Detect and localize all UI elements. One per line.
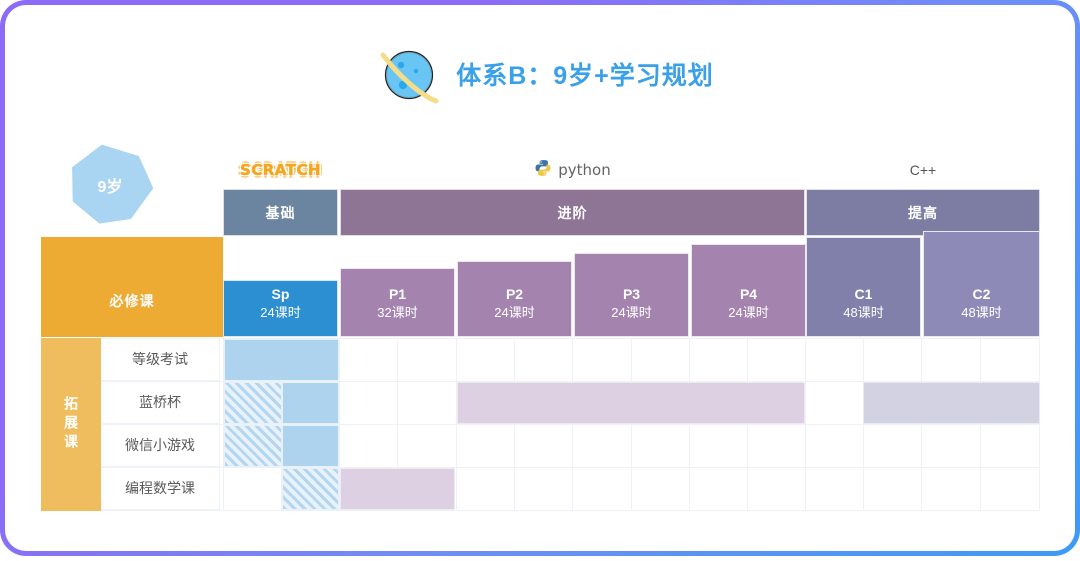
stage-label-basic: 基础 — [266, 203, 296, 223]
cpp-logo-wrap: C++ — [806, 157, 1040, 183]
slide-header: 体系B：9岁+学习规划 — [5, 41, 1080, 107]
grid-row-label-programming-math: 编程数学课 — [101, 467, 220, 510]
python-icon — [534, 159, 552, 182]
extension-course-label: 拓展课 — [41, 338, 101, 511]
gridline — [101, 510, 1040, 511]
stage-label-intermediate: 进阶 — [558, 203, 588, 223]
scratch-logo: SCRATCH — [240, 161, 321, 179]
page-title: 体系B：9岁+学习规划 — [456, 56, 714, 92]
bar-wechat-game-basic[interactable] — [224, 425, 282, 467]
bar-lanqiao-python[interactable] — [457, 382, 805, 424]
course-hours-p4: 24课时 — [728, 304, 768, 323]
cpp-logo-label: C++ — [910, 162, 936, 178]
grid-row-label-level-exam: 等级考试 — [101, 338, 220, 381]
stage-header-intermediate: 进阶 — [340, 189, 805, 236]
course-code-p4: P4 — [740, 284, 757, 304]
row-label-text: 等级考试 — [132, 349, 188, 369]
scratch-logo-wrap: SCRATCH — [223, 157, 338, 183]
row-label-text: 蓝桥杯 — [139, 392, 181, 412]
brand-logo-row: SCRATCH python C++ — [5, 157, 1080, 185]
slide-canvas: 体系B：9岁+学习规划 9岁 SCRATCH — [5, 5, 1080, 561]
gridline — [101, 467, 1040, 468]
course-code-p3: P3 — [623, 284, 640, 304]
planet-icon — [376, 41, 442, 107]
stage-header-advanced: 提高 — [806, 189, 1040, 236]
course-code-p2: P2 — [506, 284, 523, 304]
stage-label-advanced: 提高 — [908, 203, 938, 223]
bar-lanqiao-cpp[interactable] — [863, 382, 1040, 424]
page-frame: 体系B：9岁+学习规划 9岁 SCRATCH — [0, 0, 1080, 556]
course-code-p1: P1 — [389, 284, 406, 304]
row-label-text: 编程数学课 — [125, 478, 195, 498]
grid-row-label-lanqiao-cup: 蓝桥杯 — [101, 381, 220, 424]
course-hours-c1: 48课时 — [843, 304, 883, 323]
required-course-label: 必修课 — [41, 237, 223, 337]
bar-math-scratch[interactable] — [282, 468, 339, 510]
course-block-p4[interactable]: P4 24课时 — [691, 244, 806, 337]
bar-math-python[interactable] — [340, 468, 455, 510]
bar-lanqiao-scratch[interactable] — [282, 382, 339, 424]
course-code-c2: C2 — [973, 284, 991, 304]
course-hours-p3: 24课时 — [611, 304, 651, 323]
course-block-p1[interactable]: P1 32课时 — [340, 268, 455, 337]
grid-row-label-wechat-mini-game: 微信小游戏 — [101, 424, 220, 467]
course-block-c1[interactable]: C1 48课时 — [806, 237, 921, 337]
course-hours-p2: 24课时 — [494, 304, 534, 323]
course-code-sp: Sp — [272, 284, 290, 304]
course-block-p2[interactable]: P2 24课时 — [457, 261, 572, 337]
bar-lanqiao-scratch-basic[interactable] — [224, 382, 282, 424]
stage-header-basic: 基础 — [223, 189, 338, 236]
course-block-c2[interactable]: C2 48课时 — [923, 231, 1040, 337]
python-logo-wrap: python — [340, 157, 805, 183]
bar-level-exam-scratch[interactable] — [224, 339, 339, 381]
course-hours-c2: 48课时 — [961, 304, 1001, 323]
required-course-text: 必修课 — [110, 291, 155, 311]
bar-wechat-game-scratch[interactable] — [282, 425, 339, 467]
python-logo-label: python — [558, 161, 610, 179]
course-block-sp[interactable]: Sp 24课时 — [223, 280, 338, 337]
course-code-c1: C1 — [855, 284, 873, 304]
course-block-p3[interactable]: P3 24课时 — [574, 253, 689, 337]
age-badge-label: 9岁 — [62, 138, 158, 232]
course-hours-sp: 24课时 — [260, 304, 300, 323]
extension-grid: 等级考试 蓝桥杯 微信小游戏 编程数学课 — [101, 338, 1040, 511]
course-hours-p1: 32课时 — [377, 304, 417, 323]
extension-course-text: 拓展课 — [64, 396, 78, 453]
row-label-text: 微信小游戏 — [125, 435, 195, 455]
